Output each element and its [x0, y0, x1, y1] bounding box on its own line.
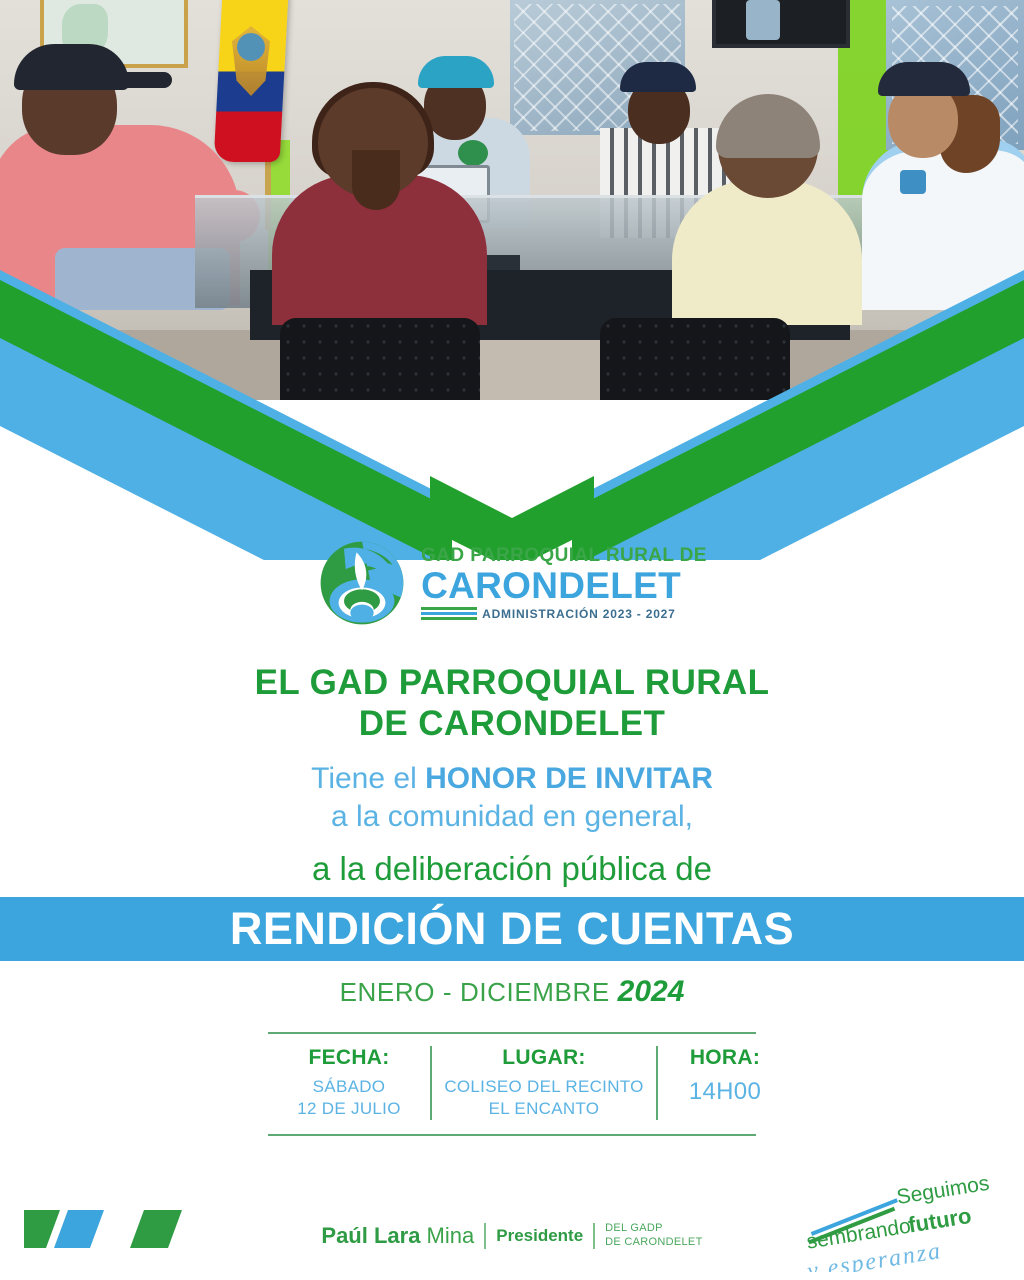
detail-date-value-2: 12 DE JULIO — [274, 1098, 424, 1120]
president-name: Paúl Lara Mina — [321, 1223, 474, 1249]
detail-date-value-1: SÁBADO — [274, 1076, 424, 1098]
headline-line-1: EL GAD PARROQUIAL RURAL — [0, 662, 1024, 703]
period-year: 2024 — [618, 975, 685, 1008]
organization-line-2: DE CARONDELET — [605, 1236, 702, 1250]
person-right-shirt-logo — [900, 170, 926, 194]
organization-line-1: DEL GADP — [605, 1222, 702, 1236]
detail-time-label: HORA: — [664, 1046, 786, 1070]
organization-logo: GAD PARROQUIAL RURAL DE CARONDELET ADMIN… — [0, 538, 1024, 628]
president-name-light: Mina — [420, 1223, 474, 1248]
signature-divider-1 — [484, 1223, 486, 1249]
logo-bars-icon — [421, 607, 477, 620]
person-center-shirt-logo — [458, 140, 488, 166]
detail-place-value-2: EL ENCANTO — [438, 1098, 650, 1120]
logo-admin-row: ADMINISTRACIÓN 2023 - 2027 — [421, 607, 707, 620]
detail-place-value-1: COLISEO DEL RECINTO — [438, 1076, 650, 1098]
detail-time-value: 14H00 — [664, 1076, 786, 1107]
person-right-cap — [878, 62, 970, 96]
invitation-line-2: a la comunidad en general, — [0, 798, 1024, 836]
person-left-cap-brim — [110, 72, 172, 88]
detail-place-label: LUGAR: — [438, 1046, 650, 1070]
event-details: FECHA: SÁBADO 12 DE JULIO LUGAR: COLISEO… — [268, 1032, 756, 1136]
detail-place: LUGAR: COLISEO DEL RECINTO EL ENCANTO — [430, 1046, 656, 1120]
logo-line-1: GAD PARROQUIAL RURAL DE — [421, 546, 707, 565]
tagline-line-1: Seguimos — [895, 1176, 991, 1209]
detail-time: HORA: 14H00 — [656, 1046, 792, 1120]
tagline-line-2b: futuro — [906, 1203, 973, 1238]
invitation-prefix: Tiene el — [311, 762, 425, 795]
invitation-text: Tiene el HONOR DE INVITAR a la comunidad… — [0, 760, 1024, 837]
chevron-banner — [0, 240, 1024, 560]
framed-picture — [712, 0, 850, 48]
invitation-poster: GAD PARROQUIAL RURAL DE CARONDELET ADMIN… — [0, 0, 1024, 1280]
invitation-emphasis: HONOR DE INVITAR — [425, 762, 713, 795]
detail-date-label: FECHA: — [274, 1046, 424, 1070]
headline-line-2: DE CARONDELET — [0, 703, 1024, 744]
signature-divider-2 — [593, 1223, 595, 1249]
president-name-bold: Paúl Lara — [321, 1223, 420, 1248]
president-role: Presidente — [496, 1226, 583, 1246]
logo-line-2: CARONDELET — [421, 567, 707, 604]
page-title: EL GAD PARROQUIAL RURAL DE CARONDELET — [0, 662, 1024, 745]
organization-name: DEL GADP DE CARONDELET — [605, 1222, 702, 1250]
person-plaid-cap — [620, 62, 696, 92]
slogan-tagline: Seguimos sembrando futuro y esperanza — [793, 1176, 1008, 1272]
main-title-band: RENDICIÓN DE CUENTAS — [0, 897, 1024, 961]
invitation-line-1: Tiene el HONOR DE INVITAR — [0, 760, 1024, 798]
period-text: ENERO - DICIEMBRE 2024 — [0, 975, 1024, 1009]
person-maroon-ponytail — [352, 150, 400, 210]
detail-date: FECHA: SÁBADO 12 DE JULIO — [268, 1046, 430, 1120]
period-months: ENERO - DICIEMBRE — [340, 977, 610, 1007]
logo-line-3: ADMINISTRACIÓN 2023 - 2027 — [482, 608, 676, 620]
deliberation-text: a la deliberación pública de — [0, 850, 1024, 888]
main-title: RENDICIÓN DE CUENTAS — [230, 903, 794, 955]
carondelet-swirl-logo-icon — [317, 538, 407, 628]
logo-text: GAD PARROQUIAL RURAL DE CARONDELET ADMIN… — [421, 546, 707, 620]
person-center-cap — [418, 56, 494, 88]
